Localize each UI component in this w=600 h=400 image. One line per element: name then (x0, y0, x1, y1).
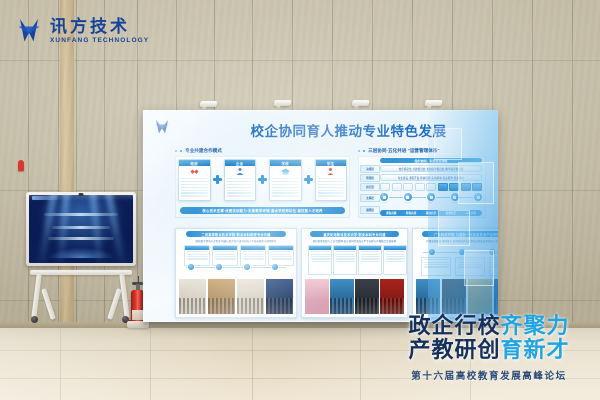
display-stand-shelf (30, 270, 132, 275)
case-panel-subtitle: 围绕数字经济产业需求·构建以能力为产出导向的人才培养模式与课程体系 (183, 239, 289, 243)
case-panel[interactable]: 重庆机电职业技术大学·职业本科专业共建 面向智能制造与工业互联网·校企协同打造高… (301, 228, 408, 318)
photo (380, 279, 404, 314)
plus-connector-icon (304, 175, 313, 184)
plus-connector-icon (213, 175, 222, 184)
x-mark-logo-icon (14, 16, 44, 46)
overlay-line1-dark: 政企行校 (408, 313, 500, 338)
footer-item: 课程共建 (382, 211, 400, 215)
stand-caster (31, 316, 38, 323)
overlay-line-1: 政企行校齐聚力 (394, 314, 584, 339)
exhibition-board[interactable]: 校企协同育人推动专业特色发展 专业共建合作模式 政府 企业 (143, 110, 498, 322)
student-icon (316, 166, 347, 177)
photo (266, 279, 293, 314)
exhibition-hall-scene: 讯方技术 XUNFANG TECHNOLOGY (0, 0, 600, 400)
photo (237, 279, 264, 314)
photo (208, 279, 235, 314)
cooperation-model-panel: 政府 企业 (175, 156, 350, 218)
photo (305, 279, 329, 314)
partner-card-row: 政府 企业 (178, 159, 347, 201)
logo-text-en: XUNFANG TECHNOLOGY (50, 37, 149, 44)
case-panel-diagram (306, 245, 403, 277)
interactive-display-unit[interactable] (26, 192, 136, 332)
row-label: 执行层 (360, 183, 380, 191)
board-decor-gradient (428, 110, 498, 322)
picture-light-2 (273, 100, 291, 106)
picture-light-1 (199, 101, 217, 107)
camera-icon (79, 193, 84, 196)
photo (330, 279, 354, 314)
overlay-line1-cyan: 齐聚力 (501, 313, 570, 338)
case-panel-title: 重庆机电职业技术大学·职业本科专业共建 (310, 231, 398, 237)
partner-card[interactable]: 企业 (224, 159, 257, 201)
overlay-line-2: 产教研创育新才 (394, 338, 584, 363)
overlay-subtitle: 第十六届高校教育发展高峰论坛 (394, 368, 584, 382)
case-panel[interactable]: 二类高等职业技术学院·职业本科院校专业共建 围绕数字经济产业需求·构建以能力为产… (175, 228, 297, 318)
display-screen[interactable] (29, 195, 133, 263)
display-frame (26, 192, 136, 266)
row-label: 管理层 (360, 174, 380, 182)
people-icon (225, 166, 256, 177)
overlay-caption: 政企行校齐聚力 产教研创育新才 第十六届高校教育发展高峰论坛 (394, 314, 584, 382)
plus-connector-icon (258, 175, 267, 184)
row-label: 保障层 (360, 206, 380, 214)
photo (355, 279, 379, 314)
row-label: 支撑层 (360, 194, 380, 202)
left-section-heading-text: 专业共建合作模式 (185, 148, 222, 154)
case-panel-diagram (180, 245, 292, 277)
partner-card[interactable]: 政府 (178, 159, 211, 201)
red-wall-fixture-icon (18, 160, 24, 171)
screen-titlebar-tag (32, 196, 58, 200)
case-panel-subtitle: 面向智能制造与工业互联网·校企协同打造高水平专业群与产教融合实训基地 (308, 239, 400, 243)
school-icon (270, 166, 301, 177)
flow-node[interactable] (380, 193, 388, 201)
footer-item: 师资共培 (402, 211, 420, 215)
case-panel-title: 二类高等职业技术学院·职业本科院校专业共建 (186, 231, 287, 237)
overlay-line2-dark: 产教研创 (408, 337, 500, 362)
picture-light-4 (424, 100, 442, 106)
cooperation-banner: 核心技术支撑·优质实训能力·实景教学环境·高水平双师队伍·高技能人才培养 (180, 207, 345, 214)
left-section-heading: 专业共建合作模式 (175, 148, 222, 154)
x-mark-logo-icon (151, 117, 173, 137)
logo-text-cn: 讯方技术 (50, 18, 149, 36)
row-label: 决策层 (360, 165, 380, 173)
overlay-line2-cyan: 育新才 (501, 337, 570, 362)
partner-card[interactable]: 学校 (269, 159, 302, 201)
photo (179, 279, 206, 314)
picture-light-3 (351, 100, 369, 106)
case-photo-strip (179, 279, 293, 314)
company-logo: 讯方技术 XUNFANG TECHNOLOGY (14, 16, 149, 46)
case-photo-strip (305, 279, 404, 314)
board-title: 校企协同育人推动专业特色发展 (263, 119, 434, 141)
handshake-icon (179, 166, 210, 177)
flow-node[interactable] (404, 193, 412, 201)
partner-card[interactable]: 学生 (315, 159, 348, 201)
